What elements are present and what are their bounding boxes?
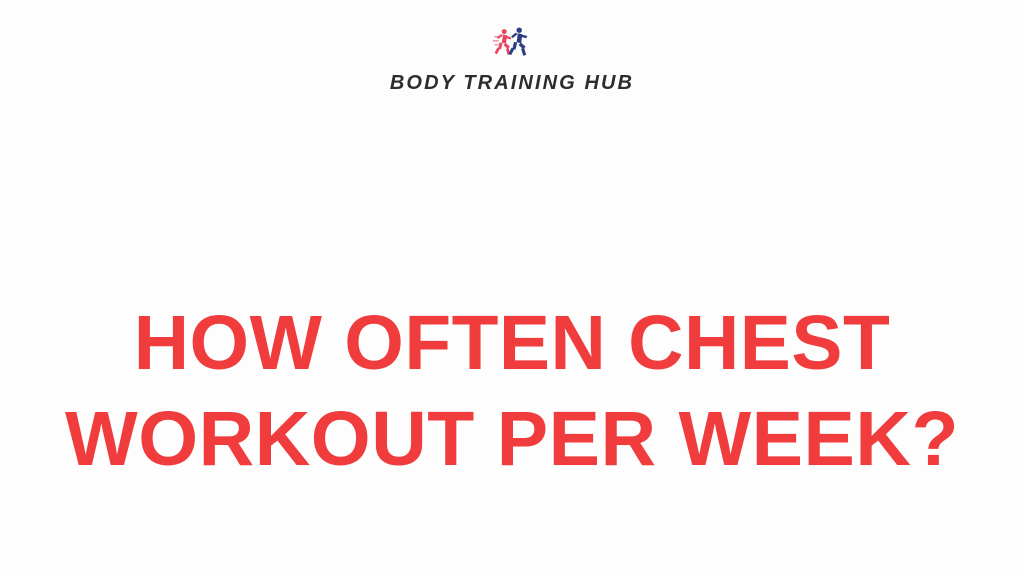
page-title-line-1: HOW OFTEN CHEST xyxy=(3,295,1022,391)
brand-lockup: BODY TRAINING HUB xyxy=(0,24,1024,95)
page-title: HOW OFTEN CHEST WORKOUT PER WEEK? xyxy=(0,295,1024,487)
title-card: BODY TRAINING HUB HOW OFTEN CHEST WORKOU… xyxy=(0,0,1024,576)
two-runners-icon xyxy=(490,24,534,64)
brand-wordmark: BODY TRAINING HUB xyxy=(390,71,634,95)
page-title-line-2: WORKOUT PER WEEK? xyxy=(0,391,1024,487)
